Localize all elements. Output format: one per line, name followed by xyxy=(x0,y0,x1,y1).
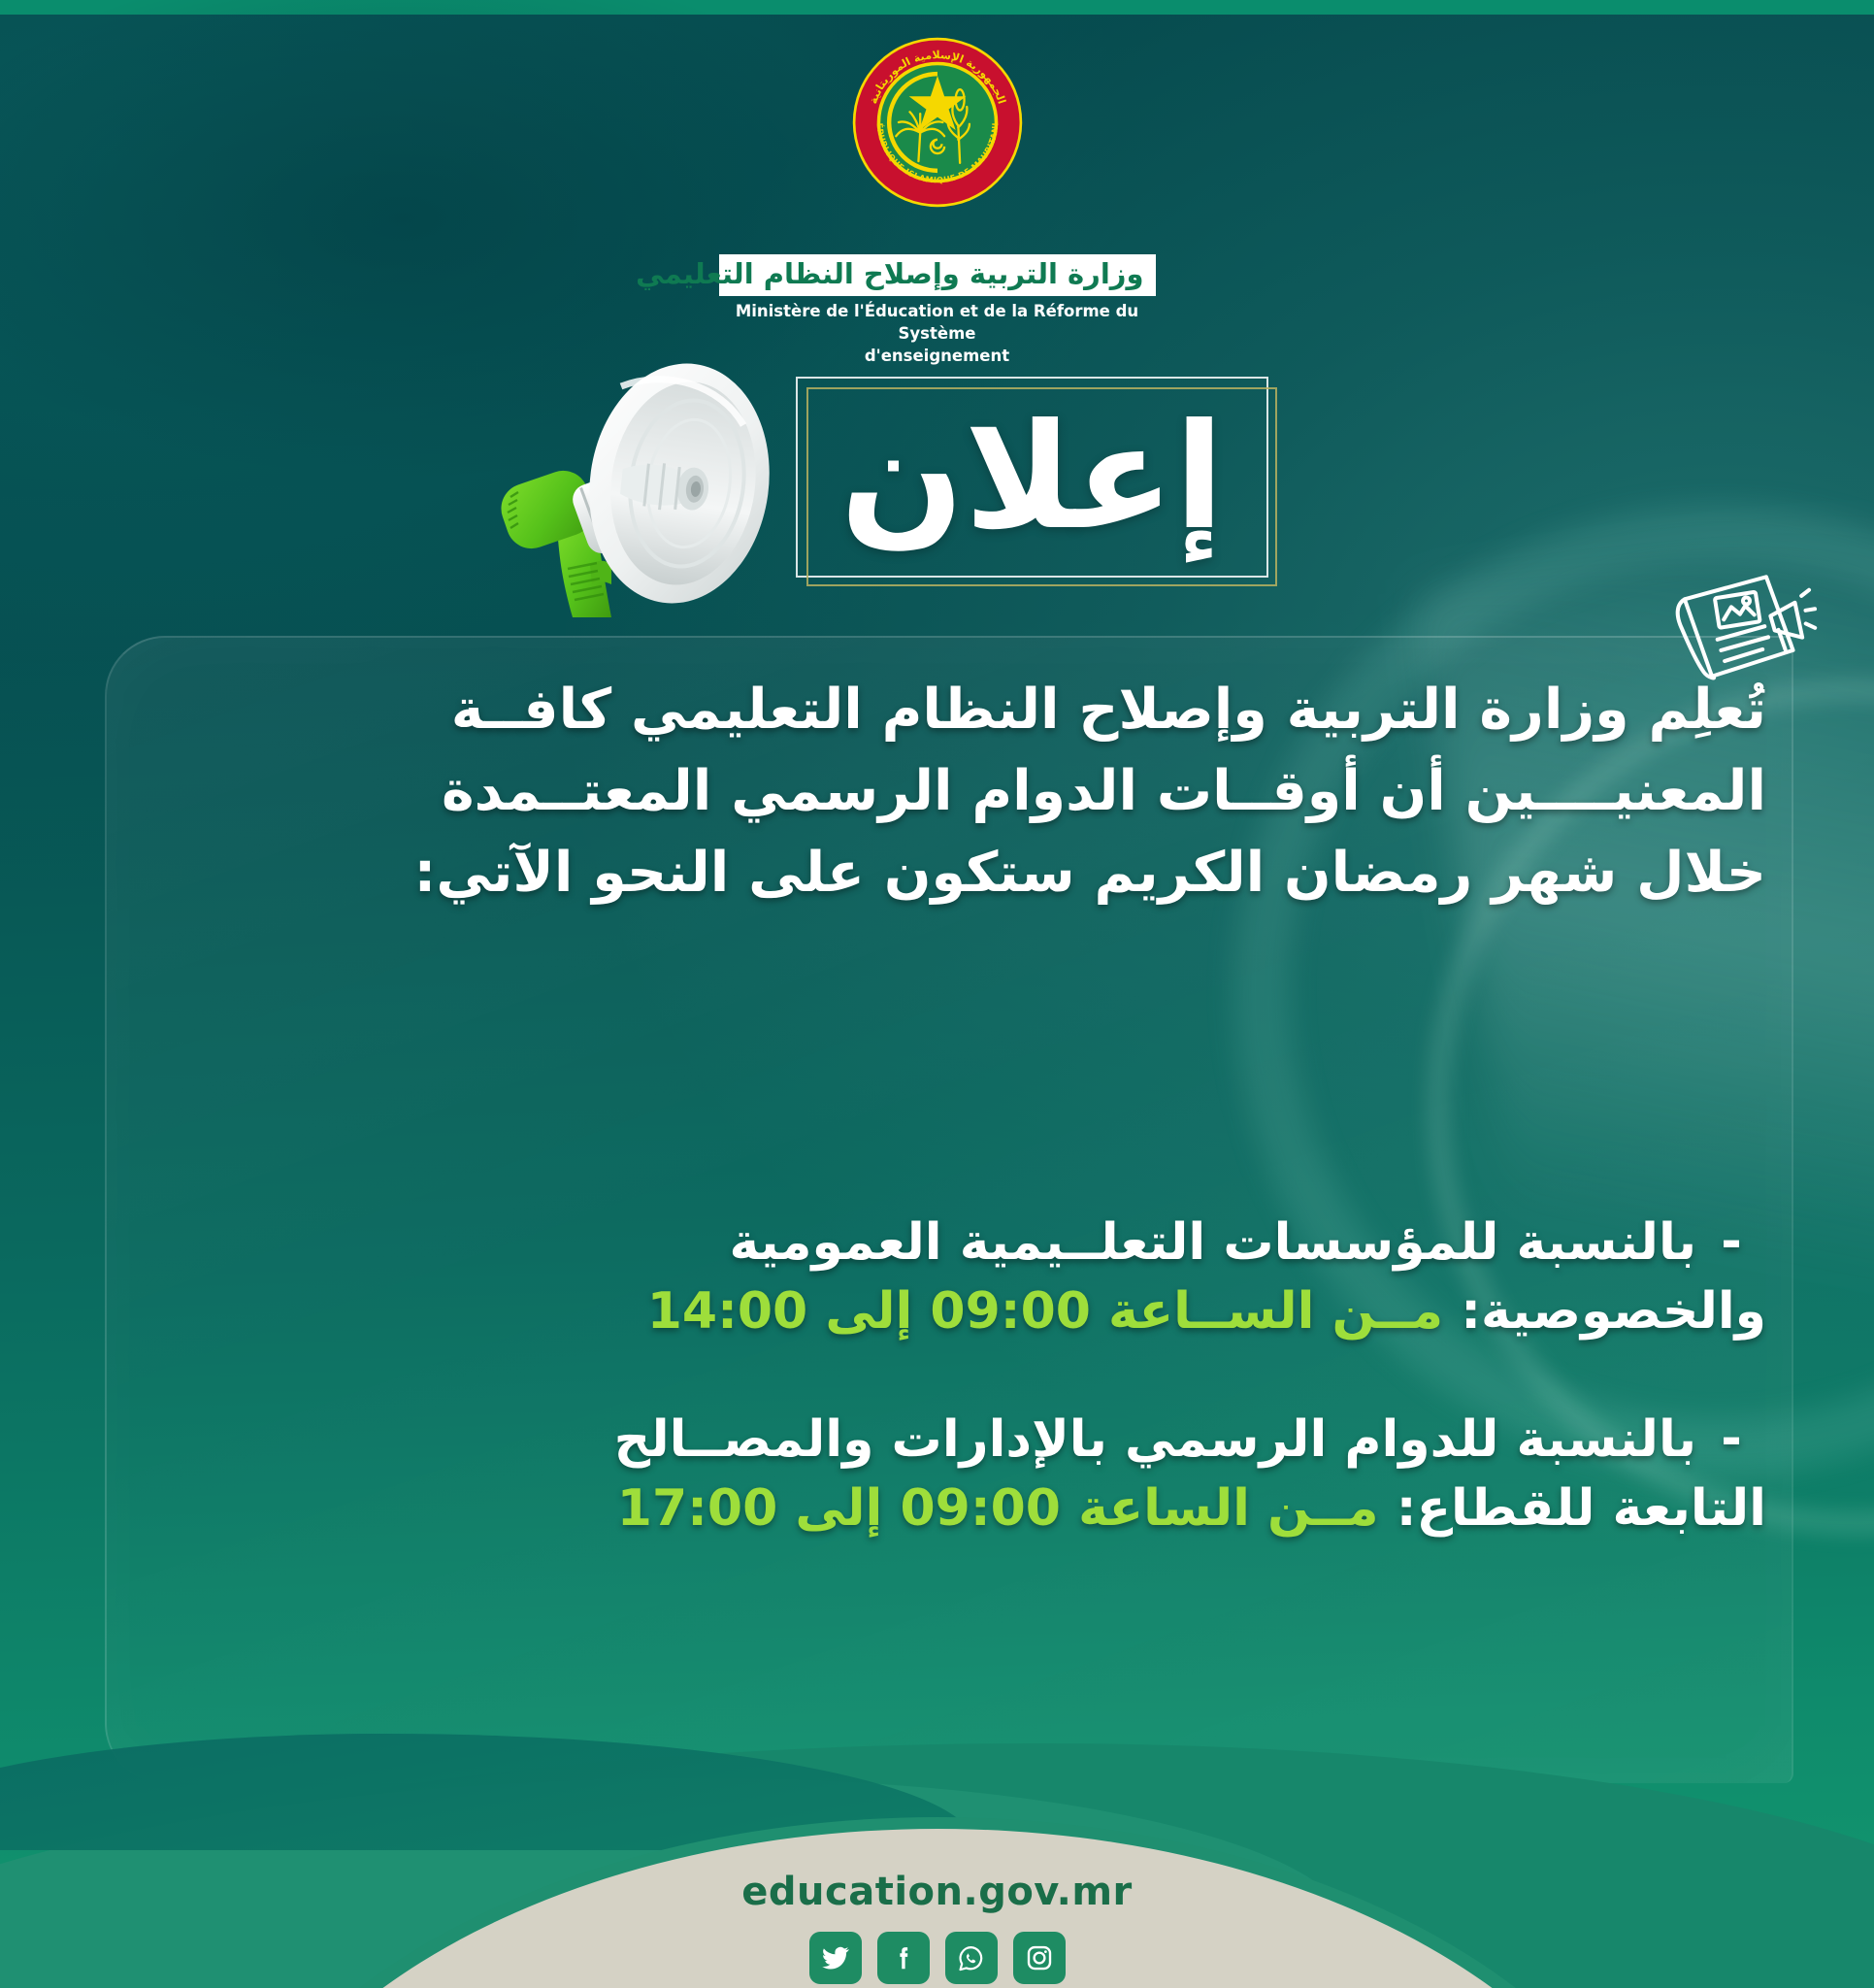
schedule-item-1-line2: والخصوصية: مــن الســاعة 09:00 إلى 14:00 xyxy=(116,1277,1766,1346)
footer: education.gov.mr xyxy=(627,1870,1248,1984)
website-url[interactable]: education.gov.mr xyxy=(627,1870,1248,1914)
facebook-icon[interactable] xyxy=(877,1932,930,1984)
mauritania-coat-of-arms-icon: الجمهورية الإسلامية الموريتانية RÉPUBLIQ… xyxy=(851,36,1024,209)
bullet-dash-icon: - xyxy=(1696,1209,1766,1276)
whatsapp-icon[interactable] xyxy=(945,1932,998,1984)
twitter-icon[interactable] xyxy=(809,1932,862,1984)
list-item: - بالنسبة للمؤسسات التعلــيمية العمومية … xyxy=(116,1209,1766,1345)
social-links xyxy=(627,1932,1248,1984)
schedule-item-1-line1: بالنسبة للمؤسسات التعلــيمية العمومية xyxy=(729,1213,1696,1272)
paragraph-line-2: المعنيــــين أن أوقــات الدوام الرسمي ال… xyxy=(116,751,1766,833)
bullet-dash-icon: - xyxy=(1696,1406,1766,1473)
megaphone-icon xyxy=(476,326,815,666)
list-item: - بالنسبة للدوام الرسمي بالإدارات والمصـ… xyxy=(116,1406,1766,1542)
announcement-schedule-list: - بالنسبة للمؤسسات التعلــيمية العمومية … xyxy=(116,1209,1766,1604)
announcement-poster: الجمهورية الإسلامية الموريتانية RÉPUBLIQ… xyxy=(0,0,1874,1988)
schedule-item-1-hours: مــن الســاعة 09:00 إلى 14:00 xyxy=(647,1282,1443,1341)
schedule-item-2-line2: التابعة للقطاع: مــن الساعة 09:00 إلى 17… xyxy=(116,1474,1766,1543)
top-accent-strip xyxy=(0,0,1874,15)
schedule-item-1-label: والخصوصية: xyxy=(1461,1282,1766,1341)
schedule-item-2-hours: مــن الساعة 09:00 إلى 17:00 xyxy=(617,1479,1379,1538)
paragraph-line-1: تُعلِم وزارة التربية وإصلاح النظام التعل… xyxy=(116,670,1766,751)
announcement-paragraph: تُعلِم وزارة التربية وإصلاح النظام التعل… xyxy=(116,670,1766,913)
schedule-item-2-label: التابعة للقطاع: xyxy=(1397,1479,1766,1538)
schedule-item-2-line1: بالنسبة للدوام الرسمي بالإدارات والمصــا… xyxy=(614,1410,1696,1469)
announcement-title: إعلان xyxy=(796,377,1268,578)
ministry-name-arabic: وزارة التربية وإصلاح النظام التعليمي xyxy=(719,254,1156,296)
instagram-icon[interactable] xyxy=(1013,1932,1066,1984)
paragraph-line-3: خلال شهر رمضان الكريم ستكون على النحو ال… xyxy=(116,833,1766,914)
